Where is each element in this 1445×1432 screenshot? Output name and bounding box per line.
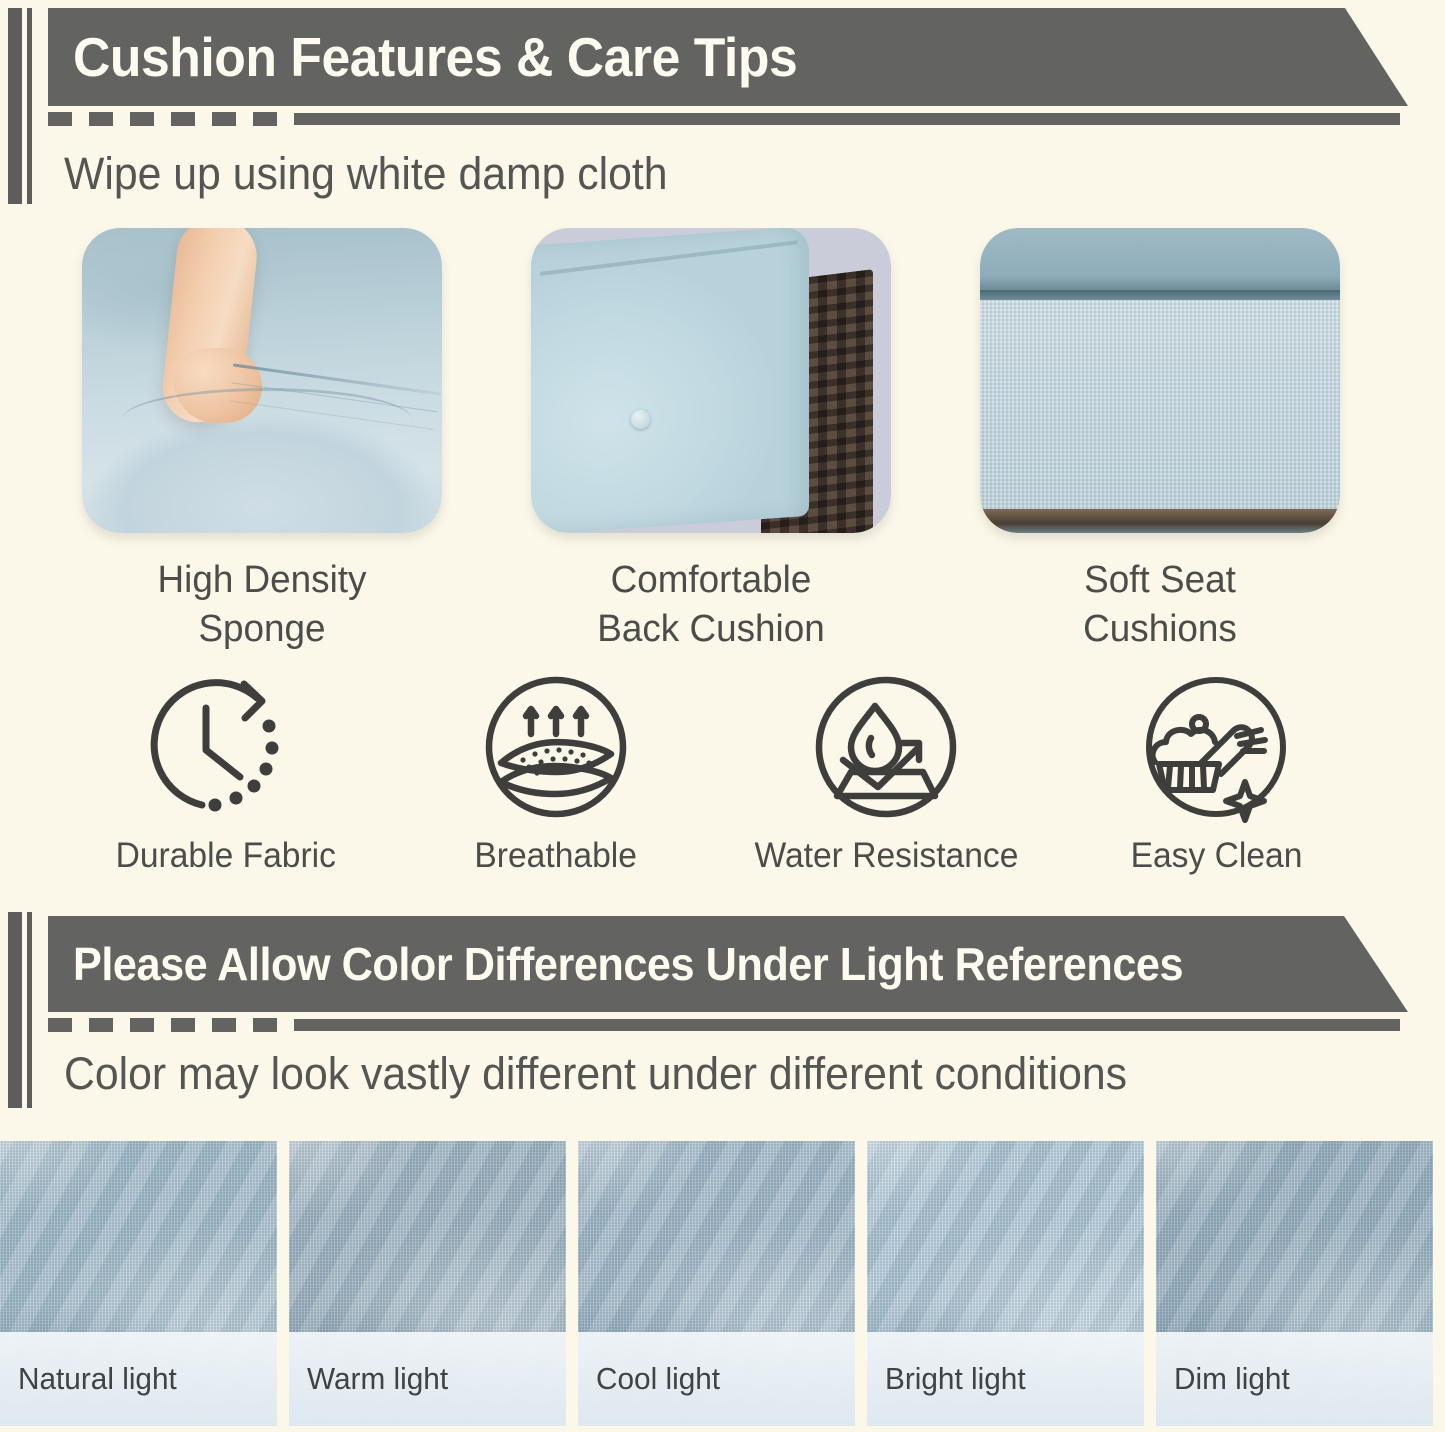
rule-dash <box>48 1018 72 1032</box>
swatch-label-band: Bright light <box>867 1332 1144 1426</box>
rule-solid-segment <box>294 113 1400 125</box>
card-caption-comfortable-back-cushion: Comfortable Back Cushion <box>536 556 885 653</box>
rule-dash <box>253 1018 277 1032</box>
feature-breathable: Breathable <box>406 668 706 876</box>
scrub-brush-sparkle-icon <box>1137 668 1295 826</box>
rule-dash <box>130 112 154 126</box>
swatch-dim-light: Dim light <box>1156 1141 1433 1426</box>
cushion-press-photo <box>82 228 442 533</box>
rule-dash <box>171 1018 195 1032</box>
swatch-label-band: Dim light <box>1156 1332 1433 1426</box>
feature-label: Water Resistance <box>754 836 1018 876</box>
feature-durable-fabric: Durable Fabric <box>76 668 376 876</box>
swatch-cool-light: Cool light <box>578 1141 855 1426</box>
swatch-natural-light: Natural light <box>0 1141 277 1426</box>
rule-dash <box>130 1018 154 1032</box>
left-accent-bar-thin-top <box>27 8 32 204</box>
swatch-warm-light: Warm light <box>289 1141 566 1426</box>
color-banner: Please Allow Color Differences Under Lig… <box>48 916 1408 1012</box>
color-subheading: Color may look vastly different under di… <box>64 1048 1127 1100</box>
left-accent-bar-thick-bottom <box>8 912 22 1108</box>
feature-label: Easy Clean <box>1130 836 1302 876</box>
feature-label: Durable Fabric <box>116 836 336 876</box>
caption-line: High Density <box>87 556 436 605</box>
swatch-label: Cool light <box>596 1361 720 1397</box>
card-comfortable-back-cushion <box>531 228 891 533</box>
caption-line: Back Cushion <box>536 605 885 654</box>
feature-icon-row: Durable Fabric <box>76 668 1366 876</box>
light-condition-swatches: Natural light Warm light Cool light Br <box>0 1141 1445 1426</box>
rule-dash <box>212 1018 236 1032</box>
rule-dash <box>48 112 72 126</box>
feature-label: Breathable <box>475 836 638 876</box>
feature-photo-cards <box>82 228 1340 533</box>
features-banner-title: Cushion Features & Care Tips <box>73 25 797 89</box>
features-dashed-rule <box>48 112 1400 126</box>
left-accent-bar-thick-top <box>8 8 22 204</box>
caption-line: Sponge <box>87 605 436 654</box>
breathable-fabric-icon <box>477 668 635 826</box>
left-accent-bar-thin-bottom <box>27 912 32 1108</box>
caption-line: Comfortable <box>536 556 885 605</box>
feature-easy-clean: Easy Clean <box>1066 668 1366 876</box>
rule-solid-segment <box>294 1019 1400 1031</box>
clock-arrow-icon <box>144 668 309 826</box>
swatch-label-band: Cool light <box>578 1332 855 1426</box>
features-banner: Cushion Features & Care Tips <box>48 8 1408 106</box>
rule-dash <box>89 112 113 126</box>
rule-dash <box>171 112 195 126</box>
rule-dash <box>89 1018 113 1032</box>
seat-cushion-photo <box>980 228 1340 533</box>
caption-line: Cushions <box>985 605 1334 654</box>
swatch-label: Bright light <box>885 1361 1026 1397</box>
color-dashed-rule <box>48 1018 1400 1032</box>
color-banner-title: Please Allow Color Differences Under Lig… <box>73 937 1183 991</box>
card-soft-seat-cushions <box>980 228 1340 533</box>
rule-dash <box>253 112 277 126</box>
water-droplet-repel-icon <box>807 668 965 826</box>
swatch-label: Natural light <box>18 1361 177 1397</box>
rule-dash <box>212 112 236 126</box>
feature-water-resistance: Water Resistance <box>736 668 1036 876</box>
back-cushion-photo <box>531 228 891 533</box>
card-caption-high-density-sponge: High Density Sponge <box>87 556 436 653</box>
swatch-bright-light: Bright light <box>867 1141 1144 1426</box>
features-subheading: Wipe up using white damp cloth <box>64 148 668 200</box>
swatch-label: Warm light <box>307 1361 448 1397</box>
swatch-label-band: Warm light <box>289 1332 566 1426</box>
card-high-density-sponge <box>82 228 442 533</box>
caption-line: Soft Seat <box>985 556 1334 605</box>
swatch-label: Dim light <box>1174 1361 1290 1397</box>
card-caption-soft-seat-cushions: Soft Seat Cushions <box>985 556 1334 653</box>
swatch-label-band: Natural light <box>0 1332 277 1426</box>
infographic-page: Cushion Features & Care Tips Wipe up usi… <box>0 0 1445 1432</box>
